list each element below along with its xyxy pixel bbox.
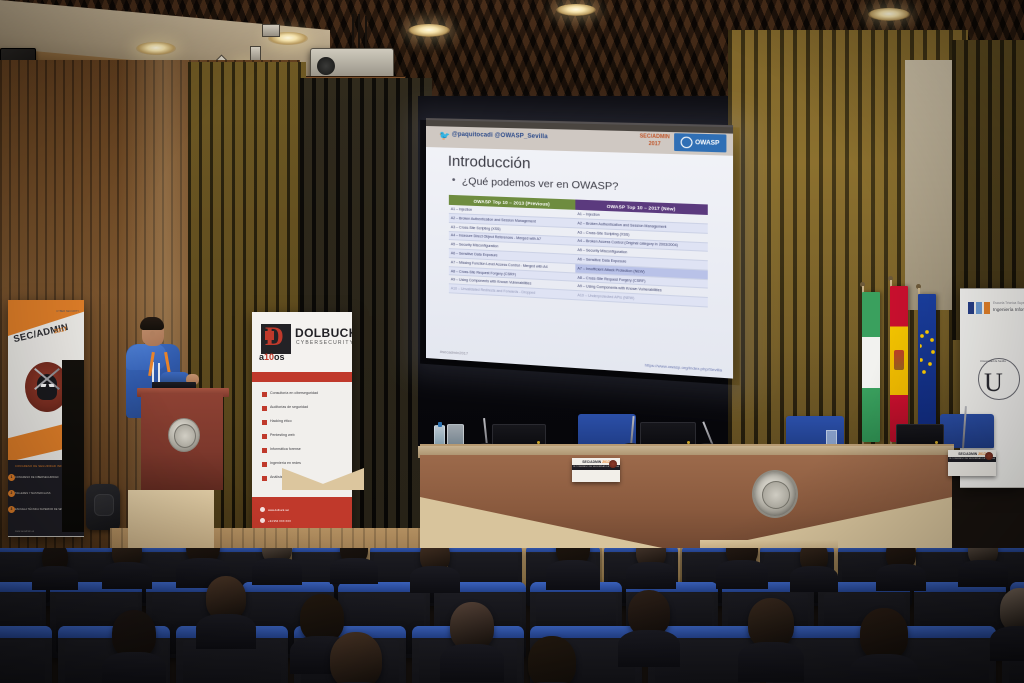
speaker-ear xyxy=(150,331,155,337)
banner-item-number: 3 xyxy=(8,506,15,513)
logo-square-lightblue xyxy=(976,302,982,314)
banner-base-rail xyxy=(960,487,1024,488)
service-bullet-icon xyxy=(262,448,267,453)
conference-photo-scene: 🐦 @paquitocadi @OWASP_Sevilla SEC/ADMIN … xyxy=(0,0,1024,683)
dolbuck-subtitle: CYBERSECURITY xyxy=(296,340,352,346)
service-item: Hacking ético xyxy=(270,419,292,423)
audience-member-shoulders xyxy=(876,564,926,591)
banner-base-rail xyxy=(8,536,84,537)
stage-chevron-left xyxy=(420,497,686,553)
audience-member-head xyxy=(300,594,344,642)
service-item: Ingeniería en redes xyxy=(270,461,301,465)
slide-title: Introducción xyxy=(448,153,531,173)
contact-item: www.dolbuck.net xyxy=(268,508,289,512)
banner-item-label: ESCUELA TÉCNICA SUPERIOR DE SEVILLA xyxy=(15,508,69,511)
banner-item-number: 1 xyxy=(8,474,15,481)
audience-member-shoulders xyxy=(850,654,918,683)
spain-coat-of-arms-icon xyxy=(894,350,904,370)
seal-letter: U xyxy=(984,368,1003,398)
slide-secadmin-year: 2017 xyxy=(640,141,670,149)
owasp-ring-icon xyxy=(681,137,693,149)
drinking-glass xyxy=(826,430,837,445)
dolbuck-anniversary: a10os xyxy=(259,352,285,362)
universidad-sevilla-seal-icon: Universidad de Sevilla U xyxy=(978,358,1018,398)
dolbuck-anniversary-num: 10 xyxy=(264,352,274,362)
slide-footer-hashtag: #secadmin2017 xyxy=(440,349,468,356)
seal-ring-text: Universidad de Sevilla xyxy=(980,360,1006,363)
dolbuck-name: DOLBUCK xyxy=(295,326,352,340)
logo-square-blue xyxy=(968,302,974,314)
etsii-squares-logo-icon xyxy=(968,302,990,314)
dolbuck-header: DOLBUCK CYBERSECURITY a10os xyxy=(252,312,352,372)
banner-item-number: 2 xyxy=(8,490,15,497)
stage-university-seal-icon xyxy=(752,470,798,518)
dolbuck-accent-bar xyxy=(252,372,352,382)
audience-member-shoulders xyxy=(958,560,1008,587)
audience-member-head xyxy=(860,608,908,660)
dolbuck-square-icon xyxy=(265,331,274,340)
ceiling-sensor xyxy=(250,46,261,61)
table-event-sign: SEC/ADMIN 2017 III CONGRESO DE SEGURIDAD… xyxy=(572,458,620,482)
service-item: Auditorías de seguridad xyxy=(270,405,308,409)
ceiling-light xyxy=(136,42,176,55)
owasp-comparison-table: OWASP Top 10 – 2013 (Previous) OWASP Top… xyxy=(449,195,708,308)
service-bullet-icon xyxy=(262,420,267,425)
contact-dot-icon xyxy=(260,507,265,512)
sign-title-text: SEC/ADMIN xyxy=(582,460,601,464)
service-bullet-icon xyxy=(262,406,267,411)
slide-secadmin-logo: SEC/ADMIN 2017 xyxy=(640,133,670,148)
eu-stars-icon xyxy=(920,330,935,390)
ceiling-light xyxy=(556,4,596,16)
contact-item: +34 954 XXX XXX xyxy=(268,519,291,523)
slide-twitter-handle: @paquitocadi @OWASP_Sevilla xyxy=(452,132,548,141)
ceiling-light xyxy=(408,24,450,37)
slide-footer-url: https://www.owasp.org/index.php/Sevilla xyxy=(645,362,722,372)
banner-item-label: CONGRESO DE CIBERSEGURIDAD xyxy=(15,476,59,479)
audience-member-shoulders xyxy=(410,566,460,593)
owasp-badge-label: OWASP xyxy=(695,139,719,146)
audience-member-shoulders xyxy=(626,562,676,589)
ceiling-light xyxy=(868,8,910,21)
banner-top-rail xyxy=(960,288,1024,289)
audience-member-shoulders xyxy=(252,558,302,585)
banner-item-label: TALLERES Y MASTERCLASS xyxy=(15,492,50,495)
audience-member-head xyxy=(330,632,382,683)
speaker-hood xyxy=(126,344,166,370)
slide-owasp-badge: OWASP xyxy=(674,133,726,152)
dark-column xyxy=(62,360,84,532)
audience-member-shoulders xyxy=(102,562,152,589)
audience-seating xyxy=(0,548,1024,683)
banner-sponsor-label: CYBER SECURITY xyxy=(56,310,79,314)
andalusia-flag xyxy=(862,292,880,442)
sign-seal-icon xyxy=(609,460,617,468)
service-bullet-icon xyxy=(262,476,267,481)
banner-url: www.secadmin.es xyxy=(15,530,34,533)
presentation-slide: 🐦 @paquitocadi @OWASP_Sevilla SEC/ADMIN … xyxy=(426,126,733,379)
ceiling-sensor xyxy=(262,24,280,37)
service-bullet-icon xyxy=(262,462,267,467)
contact-dot-icon xyxy=(260,518,265,523)
sign-seal-icon xyxy=(985,452,993,460)
audience-member-shoulders xyxy=(618,630,680,667)
speaker-hair xyxy=(140,317,164,330)
audience-member-shoulders xyxy=(546,560,600,590)
audience-member-head xyxy=(450,602,494,650)
projection-screen: 🐦 @paquitocadi @OWASP_Sevilla SEC/ADMIN … xyxy=(426,126,733,379)
backpack xyxy=(86,484,120,530)
audience-member-shoulders xyxy=(440,644,504,682)
ninja-eyes-icon xyxy=(41,384,53,387)
audience-member-shoulders xyxy=(790,566,838,592)
podium-university-seal-icon xyxy=(168,418,200,452)
slide-bullet: ¿Qué podemos ver en OWASP? xyxy=(462,175,619,193)
audience-member-shoulders xyxy=(738,642,804,682)
service-item: Informática forense xyxy=(270,447,301,451)
service-item: Consultoría en ciberseguridad xyxy=(270,391,318,395)
auditorium-seat[interactable] xyxy=(0,626,52,683)
service-bullet-icon xyxy=(262,434,267,439)
dolbuck-d-logo-icon xyxy=(261,324,291,354)
twitter-bird-icon: 🐦 xyxy=(439,131,450,140)
sign-title-text: SEC/ADMIN xyxy=(958,452,977,456)
podium-event-sign: SEC/ADMIN 2017 III CONGRESO DE SEGURIDAD… xyxy=(948,450,996,476)
etsii-line1: Escuela Técnica Superior de xyxy=(993,301,1024,305)
audience-member-head xyxy=(748,598,794,648)
audience-member-head xyxy=(528,636,576,683)
audience-member-shoulders xyxy=(330,558,378,584)
banner-dolbuck: DOLBUCK CYBERSECURITY a10os Consultoría … xyxy=(252,312,352,542)
logo-square-orange xyxy=(984,302,990,314)
audience-member-shoulders xyxy=(196,614,256,649)
audience-member-shoulders xyxy=(716,560,768,589)
service-bullet-icon xyxy=(262,392,267,397)
service-item: Pentesting web xyxy=(270,433,295,437)
audience-member-head xyxy=(112,610,156,658)
audience-member-shoulders xyxy=(102,652,166,683)
presidency-chair xyxy=(940,414,994,448)
audience-member-shoulders xyxy=(990,626,1024,661)
podium-riser xyxy=(128,490,214,550)
stage-front-panel xyxy=(420,455,952,553)
audience-member-shoulders xyxy=(32,566,78,590)
etsii-line2: Ingeniería Informática xyxy=(993,307,1024,312)
